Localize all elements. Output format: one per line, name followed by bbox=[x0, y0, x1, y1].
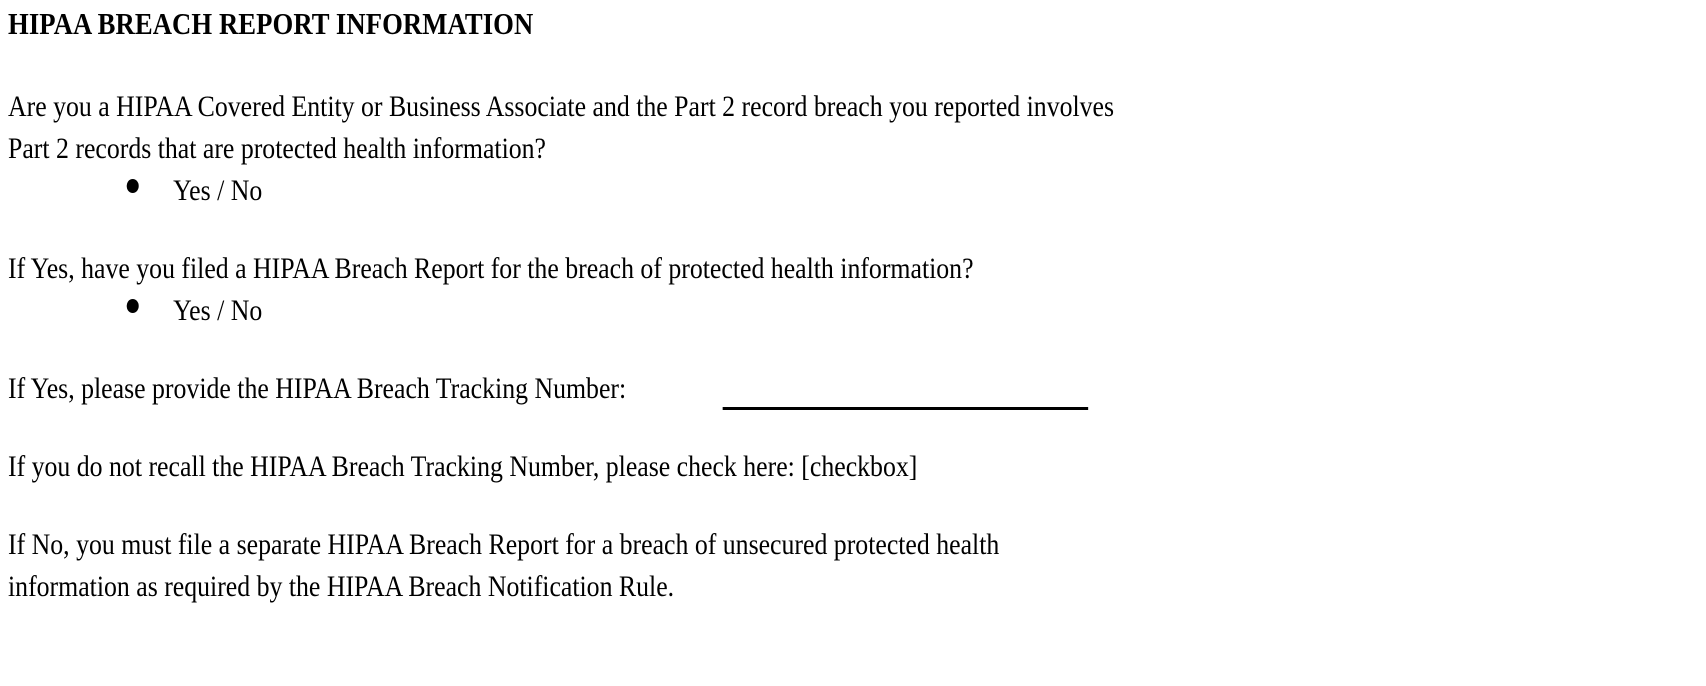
question-2-line-1: If Yes, have you filed a HIPAA Breach Re… bbox=[8, 248, 1565, 290]
question-1-line-2: Part 2 records that are protected health… bbox=[8, 128, 1565, 170]
tracking-number-input[interactable] bbox=[722, 379, 1088, 410]
spacer bbox=[8, 44, 1706, 86]
question-2-bullet-label: Yes / No bbox=[173, 290, 262, 332]
document-page: HIPAA BREACH REPORT INFORMATION Are you … bbox=[0, 0, 1706, 686]
tracking-number-label: If Yes, please provide the HIPAA Breach … bbox=[8, 368, 626, 410]
tracking-number-row: If Yes, please provide the HIPAA Breach … bbox=[8, 368, 1468, 410]
bullet-point-icon bbox=[127, 179, 139, 193]
no-recall-label: If you do not recall the HIPAA Breach Tr… bbox=[8, 446, 795, 488]
checkbox-placeholder[interactable]: [checkbox] bbox=[801, 446, 917, 488]
question-1-bullet-label: Yes / No bbox=[173, 170, 262, 212]
bullet-point-icon bbox=[127, 299, 139, 313]
page-title: HIPAA BREACH REPORT INFORMATION bbox=[8, 4, 1468, 44]
question-2-paragraph: If Yes, have you filed a HIPAA Breach Re… bbox=[8, 248, 1565, 290]
spacer bbox=[8, 410, 1706, 446]
spacer bbox=[8, 332, 1706, 368]
no-recall-row: If you do not recall the HIPAA Breach Tr… bbox=[8, 446, 1468, 488]
spacer bbox=[8, 212, 1706, 248]
question-1-bullet-item[interactable]: Yes / No bbox=[8, 170, 1468, 212]
question-2-bullet-item[interactable]: Yes / No bbox=[8, 290, 1468, 332]
question-1-paragraph: Are you a HIPAA Covered Entity or Busine… bbox=[8, 86, 1565, 170]
if-no-line-2: information as required by the HIPAA Bre… bbox=[8, 566, 1565, 608]
if-no-line-1: If No, you must file a separate HIPAA Br… bbox=[8, 524, 1565, 566]
question-1-line-1: Are you a HIPAA Covered Entity or Busine… bbox=[8, 86, 1565, 128]
spacer bbox=[8, 488, 1706, 524]
if-no-paragraph: If No, you must file a separate HIPAA Br… bbox=[8, 524, 1565, 608]
